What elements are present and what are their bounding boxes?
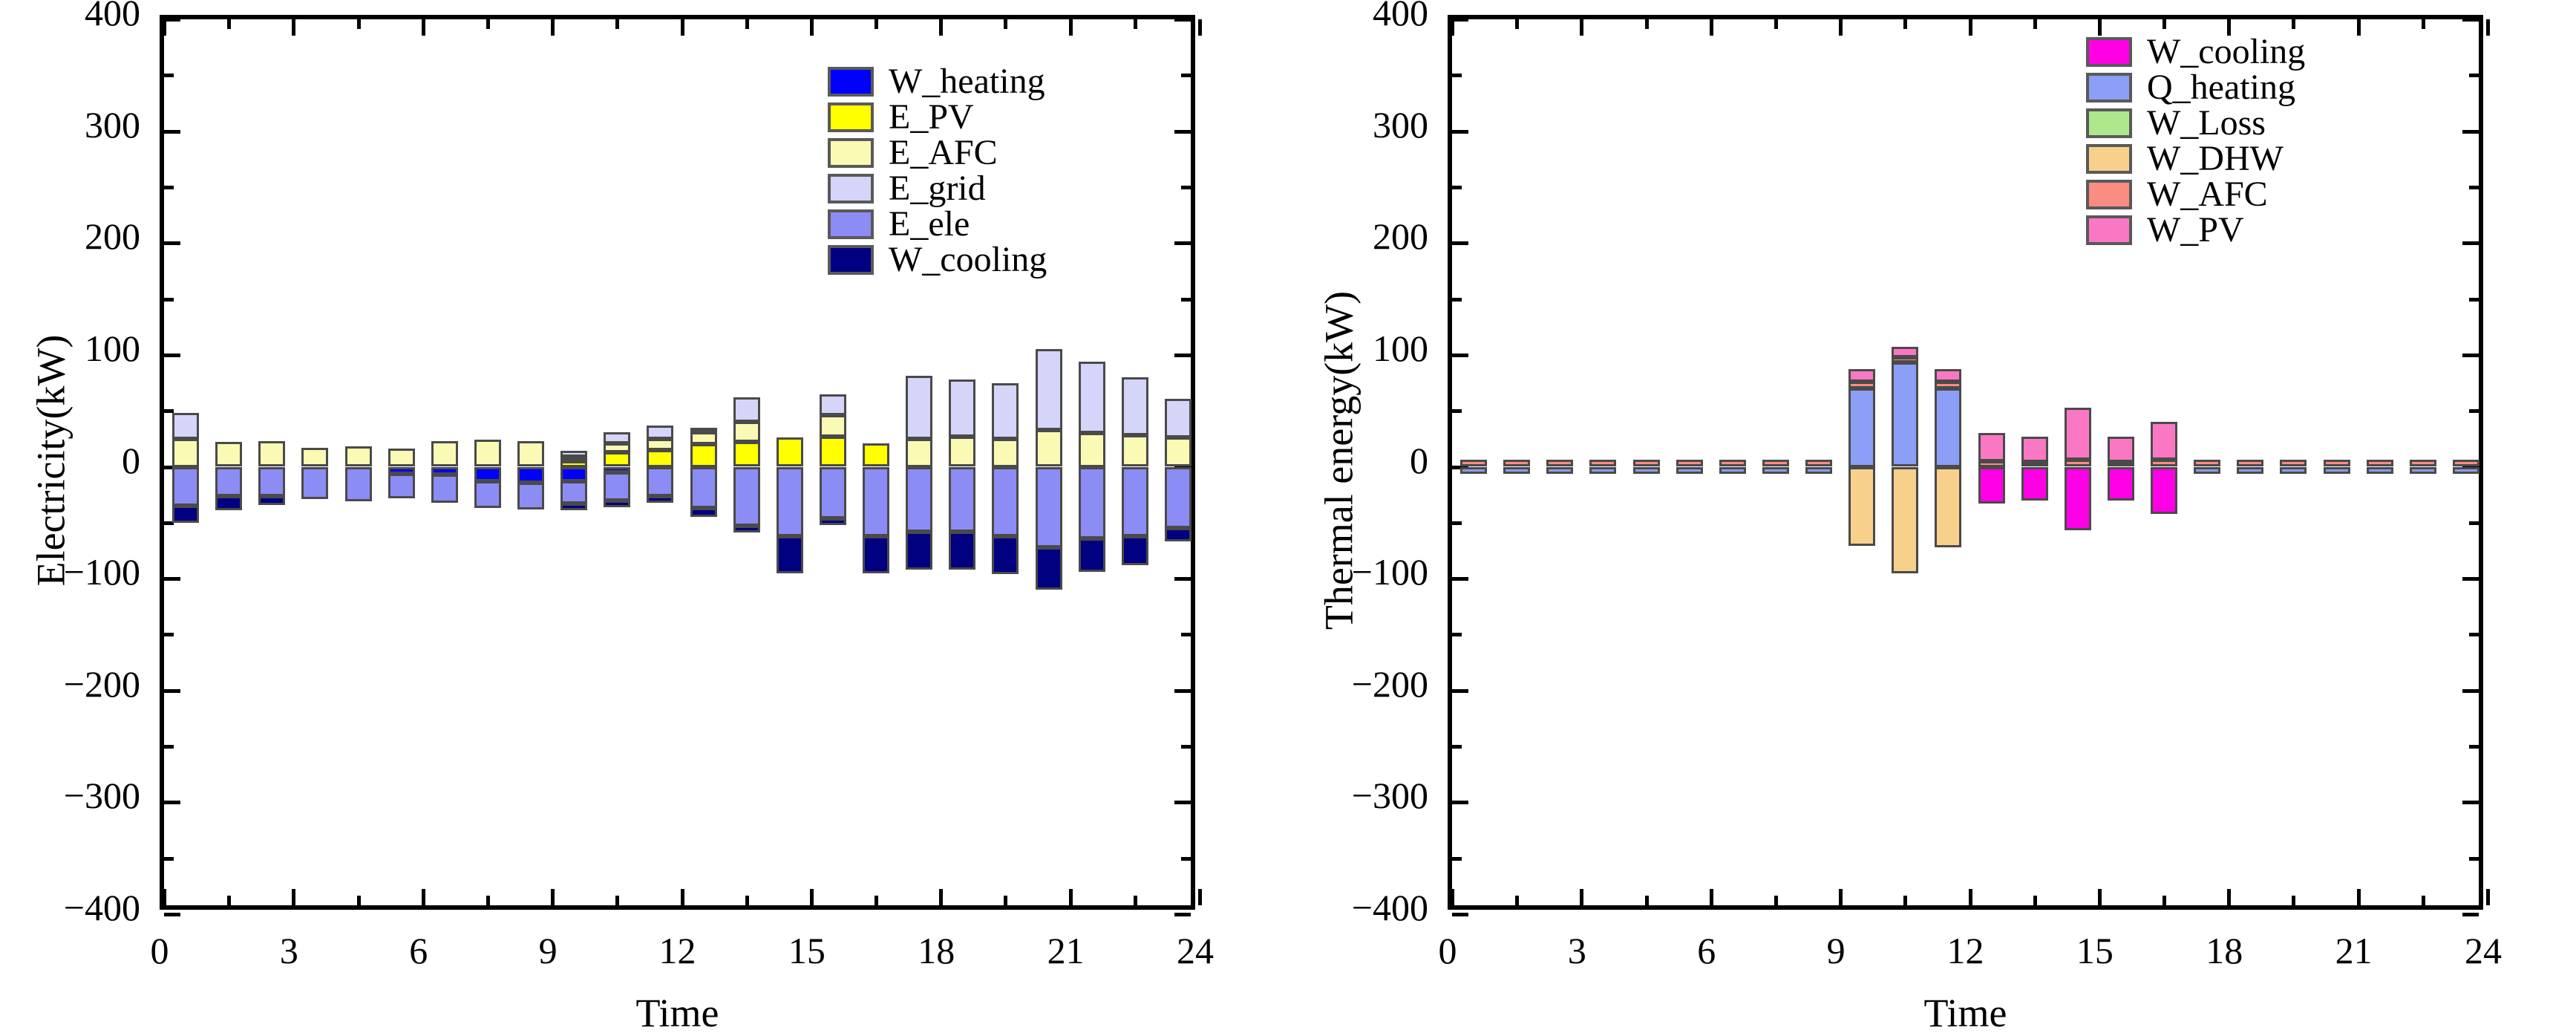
bar-segment-q_heating bbox=[2194, 467, 2220, 474]
bar-segment-e_grid bbox=[560, 451, 587, 457]
bar-segment-e_afc bbox=[1122, 435, 1148, 466]
x-axis-major-tick bbox=[1451, 889, 1454, 905]
bar-group bbox=[777, 19, 803, 914]
x-axis-major-tick bbox=[681, 889, 684, 905]
bar-group bbox=[1503, 19, 1530, 914]
bar-segment-w_pv bbox=[1978, 433, 2005, 461]
bar-segment-e_afc bbox=[388, 449, 415, 466]
legend-swatch-icon bbox=[2086, 37, 2132, 67]
bar-segment-e_grid bbox=[1036, 349, 1062, 429]
x-axis-tick-label: 12 bbox=[1899, 929, 2033, 972]
legend-item[interactable]: W_cooling bbox=[828, 244, 1047, 276]
x-axis-major-tick bbox=[1069, 19, 1073, 36]
bar-group bbox=[2410, 19, 2436, 914]
electricity-panel: −400−300−200−100010020030040003691215182… bbox=[0, 0, 1288, 1031]
legend-swatch-icon bbox=[2086, 108, 2132, 138]
bar-segment-w_pv bbox=[1935, 369, 1961, 382]
bar-segment-e_grid bbox=[1165, 399, 1191, 438]
bar-segment-w_cooling bbox=[863, 536, 889, 573]
bar-group bbox=[733, 19, 760, 914]
legend-label: W_cooling bbox=[889, 242, 1047, 278]
bar-segment-w_heating bbox=[431, 467, 458, 475]
bar-segment-e_afc bbox=[1165, 437, 1191, 466]
bar-segment-e_afc bbox=[301, 448, 328, 467]
bar-segment-q_heating bbox=[1503, 467, 1530, 474]
bar-group bbox=[2367, 19, 2393, 914]
bar-segment-w_afc bbox=[1805, 460, 1832, 466]
bar-segment-e_pv bbox=[777, 437, 803, 466]
x-axis-tick-label: 18 bbox=[2157, 929, 2291, 972]
bar-segment-w_afc bbox=[1633, 460, 1660, 466]
bar-group bbox=[431, 19, 458, 914]
bar-segment-e_ele bbox=[647, 467, 673, 496]
bar-group bbox=[1633, 19, 1660, 914]
bar-group bbox=[2021, 19, 2048, 914]
bar-segment-w_cooling bbox=[647, 496, 673, 503]
bar-segment-e_ele bbox=[431, 475, 458, 503]
x-axis-tick-label: 9 bbox=[481, 929, 615, 972]
bar-group bbox=[604, 19, 630, 914]
bar-group bbox=[1165, 19, 1191, 914]
bar-segment-w_cooling bbox=[906, 532, 932, 570]
legend-label: W_Loss bbox=[2147, 105, 2266, 141]
bar-segment-e_ele bbox=[301, 467, 328, 500]
bar-segment-w_afc bbox=[1503, 460, 1530, 466]
bar-group bbox=[258, 19, 285, 914]
legend-label: W_AFC bbox=[2147, 177, 2268, 212]
bar-group bbox=[2324, 19, 2350, 914]
bar-segment-e_ele bbox=[604, 472, 630, 501]
bar-segment-w_heating bbox=[517, 467, 544, 483]
bar-segment-w_cooling bbox=[258, 496, 285, 505]
bar-segment-w_afc bbox=[1892, 357, 1918, 363]
bar-segment-w_afc bbox=[1719, 460, 1746, 466]
bar-segment-w_cooling bbox=[777, 536, 803, 573]
bar-segment-w_cooling bbox=[560, 504, 587, 510]
bar-segment-w_dhw bbox=[1892, 467, 1918, 573]
bar-segment-w_pv bbox=[2021, 437, 2048, 463]
bar-segment-q_heating bbox=[1848, 388, 1875, 466]
bar-segment-e_afc bbox=[258, 441, 285, 467]
legend-swatch-icon bbox=[2086, 73, 2132, 102]
x-axis-major-tick bbox=[1580, 889, 1583, 905]
bar-segment-w_heating bbox=[604, 467, 630, 473]
legend-item[interactable]: E_grid bbox=[828, 172, 1047, 205]
x-axis-major-tick bbox=[1710, 889, 1713, 905]
legend-item[interactable]: W_Loss bbox=[2086, 107, 2305, 140]
bar-segment-e_afc bbox=[906, 439, 932, 467]
bar-segment-e_pv bbox=[647, 450, 673, 467]
x-axis-tick-label: 9 bbox=[1769, 929, 1903, 972]
bar-segment-w_cooling bbox=[992, 536, 1019, 574]
bar-segment-w_pv bbox=[1892, 347, 1918, 357]
bar-segment-e_afc bbox=[345, 446, 372, 466]
bar-group bbox=[1719, 19, 1746, 914]
x-axis-major-tick bbox=[2098, 889, 2102, 905]
x-axis-major-tick bbox=[1839, 889, 1843, 905]
bar-group bbox=[2453, 19, 2479, 914]
bar-segment-e_afc bbox=[690, 432, 717, 445]
x-axis-major-tick bbox=[1451, 19, 1454, 36]
x-axis-tick-label: 3 bbox=[1510, 929, 1644, 972]
bar-group bbox=[172, 19, 199, 914]
bar-segment-w_cooling bbox=[949, 532, 975, 570]
thermal-energy-panel: −400−300−200−100010020030040003691215182… bbox=[1288, 0, 2576, 1031]
bar-segment-q_heating bbox=[1676, 467, 1703, 474]
bar-segment-q_heating bbox=[1935, 388, 1961, 466]
bar-group bbox=[560, 19, 587, 914]
x-axis-major-tick bbox=[1580, 19, 1583, 36]
legend-label: E_grid bbox=[889, 171, 986, 206]
x-axis-major-tick bbox=[1198, 19, 1202, 36]
legend-item[interactable]: W_PV bbox=[2086, 214, 2305, 247]
bar-segment-w_pv bbox=[2108, 437, 2134, 463]
bar-segment-w_afc bbox=[2021, 462, 2048, 466]
bar-segment-e_ele bbox=[1036, 467, 1062, 547]
bar-segment-q_heating bbox=[2410, 467, 2436, 474]
x-axis-tick-label: 21 bbox=[999, 929, 1133, 972]
bar-segment-e_grid bbox=[690, 428, 717, 432]
bar-segment-w_afc bbox=[1848, 382, 1875, 388]
x-axis-tick-label: 15 bbox=[2028, 929, 2162, 972]
bar-segment-w_cooling bbox=[604, 501, 630, 507]
bar-segment-q_heating bbox=[2324, 467, 2350, 474]
bar-segment-w_afc bbox=[1460, 460, 1487, 466]
bar-segment-e_ele bbox=[172, 467, 199, 506]
bar-segment-e_grid bbox=[949, 379, 975, 437]
legend-label: E_ele bbox=[889, 206, 970, 242]
legend-item[interactable]: Q_heating bbox=[2086, 71, 2305, 104]
bar-segment-w_heating bbox=[474, 467, 501, 482]
x-axis-major-tick bbox=[1710, 19, 1713, 36]
legend: W_heatingE_PVE_AFCE_gridE_eleW_cooling bbox=[828, 65, 1047, 279]
bar-segment-w_afc bbox=[2194, 460, 2220, 466]
bar-segment-w_afc bbox=[2108, 462, 2134, 466]
legend-item[interactable]: E_AFC bbox=[828, 137, 1047, 169]
bar-segment-e_afc bbox=[560, 457, 587, 461]
bar-segment-e_afc bbox=[474, 440, 501, 466]
x-axis-tick-label: 24 bbox=[2416, 929, 2550, 972]
bar-segment-e_afc bbox=[820, 415, 846, 437]
x-axis-title: Time bbox=[1448, 990, 2483, 1036]
bar-segment-w_afc bbox=[2410, 460, 2436, 466]
bar-segment-e_ele bbox=[992, 467, 1019, 536]
bar-segment-e_ele bbox=[215, 467, 242, 496]
legend-item[interactable]: W_cooling bbox=[2086, 36, 2305, 68]
bar-segment-w_afc bbox=[2367, 460, 2393, 466]
bar-segment-w_afc bbox=[1676, 460, 1703, 466]
bar-segment-e_ele bbox=[690, 467, 717, 509]
legend-label: W_DHW bbox=[2147, 141, 2284, 177]
bar-segment-q_heating bbox=[2453, 467, 2479, 474]
bar-group bbox=[1546, 19, 1573, 914]
bar-group bbox=[215, 19, 242, 914]
bar-segment-e_pv bbox=[604, 452, 630, 467]
legend-swatch-icon bbox=[828, 245, 874, 275]
bar-segment-q_heating bbox=[2280, 467, 2307, 474]
bar-segment-q_heating bbox=[1460, 467, 1487, 474]
bar-segment-e_grid bbox=[992, 383, 1019, 439]
bar-segment-e_grid bbox=[820, 394, 846, 416]
bar-segment-w_cooling bbox=[690, 508, 717, 517]
bar-segment-e_afc bbox=[172, 439, 199, 467]
bar-segment-w_cooling bbox=[2108, 467, 2134, 501]
bar-segment-e_afc bbox=[1036, 430, 1062, 467]
bar-segment-w_cooling bbox=[1036, 547, 1062, 590]
legend-label: E_AFC bbox=[889, 135, 998, 171]
bar-segment-q_heating bbox=[1805, 467, 1832, 474]
bar-segment-e_grid bbox=[1122, 377, 1148, 435]
x-axis-tick-label: 18 bbox=[869, 929, 1003, 972]
legend-swatch-icon bbox=[828, 138, 874, 168]
bar-segment-e_grid bbox=[733, 397, 760, 422]
legend-label: Q_heating bbox=[2147, 70, 2295, 105]
bar-segment-e_pv bbox=[560, 461, 587, 467]
bar-group bbox=[1805, 19, 1832, 914]
legend-swatch-icon bbox=[828, 209, 874, 239]
bar-group bbox=[1122, 19, 1148, 914]
bar-segment-e_afc bbox=[992, 439, 1019, 467]
x-axis-major-tick bbox=[292, 19, 295, 36]
x-axis-major-tick bbox=[2098, 19, 2102, 36]
bar-segment-w_afc bbox=[2280, 460, 2307, 466]
y-axis-title: Electricity(kW) bbox=[27, 13, 73, 908]
bar-segment-e_ele bbox=[1165, 467, 1191, 529]
bar-segment-w_afc bbox=[1762, 460, 1789, 466]
bar-segment-e_grid bbox=[1079, 362, 1105, 433]
bar-segment-q_heating bbox=[1762, 467, 1789, 474]
bar-segment-w_cooling bbox=[733, 526, 760, 532]
bar-group bbox=[301, 19, 328, 914]
x-axis-major-tick bbox=[810, 19, 814, 36]
bar-segment-w_cooling bbox=[1122, 536, 1148, 565]
bar-group bbox=[388, 19, 415, 914]
bar-segment-e_afc bbox=[1079, 433, 1105, 466]
bar-segment-e_afc bbox=[949, 437, 975, 467]
bar-group bbox=[474, 19, 501, 914]
x-axis-major-tick bbox=[163, 19, 166, 36]
bar-segment-w_dhw bbox=[1848, 467, 1875, 547]
bar-segment-e_afc bbox=[733, 422, 760, 442]
x-axis-major-tick bbox=[939, 889, 943, 905]
legend-swatch-icon bbox=[2086, 180, 2132, 209]
bar-segment-w_cooling bbox=[1079, 538, 1105, 572]
bar-segment-e_ele bbox=[517, 483, 544, 509]
legend-item[interactable]: W_heating bbox=[828, 65, 1047, 98]
bar-segment-w_cooling bbox=[2151, 467, 2177, 514]
x-axis-tick-label: 0 bbox=[1381, 929, 1514, 972]
bar-segment-w_pv bbox=[2065, 408, 2091, 460]
bar-segment-e_ele bbox=[820, 467, 846, 518]
bar-segment-e_ele bbox=[733, 467, 760, 527]
x-axis-major-tick bbox=[939, 19, 943, 36]
x-axis-major-tick bbox=[1969, 889, 1972, 905]
bar-segment-q_heating bbox=[2237, 467, 2263, 474]
legend-swatch-icon bbox=[2086, 215, 2132, 245]
bar-group bbox=[1589, 19, 1616, 914]
bar-segment-q_heating bbox=[1633, 467, 1660, 474]
bar-group bbox=[517, 19, 544, 914]
bar-segment-w_afc bbox=[2151, 460, 2177, 466]
x-axis-major-tick bbox=[681, 19, 684, 36]
bar-segment-w_afc bbox=[2453, 460, 2479, 466]
x-axis-major-tick bbox=[2486, 889, 2490, 905]
bar-segment-w_pv bbox=[2151, 422, 2177, 460]
bar-segment-w_afc bbox=[1978, 461, 2005, 467]
x-axis-title: Time bbox=[160, 990, 1195, 1036]
bar-segment-e_afc bbox=[431, 441, 458, 467]
legend-label: W_PV bbox=[2147, 212, 2244, 248]
bar-segment-e_ele bbox=[474, 481, 501, 508]
bar-group bbox=[1676, 19, 1703, 914]
bar-segment-w_afc bbox=[2065, 460, 2091, 466]
bar-segment-e_afc bbox=[517, 441, 544, 467]
bar-segment-e_afc bbox=[604, 443, 630, 452]
legend-swatch-icon bbox=[828, 174, 874, 203]
legend: W_coolingQ_heatingW_LossW_DHWW_AFCW_PV bbox=[2086, 36, 2305, 250]
bar-group bbox=[1762, 19, 1789, 914]
bar-segment-e_ele bbox=[949, 467, 975, 532]
bar-segment-q_heating bbox=[1719, 467, 1746, 474]
x-axis-major-tick bbox=[551, 19, 555, 36]
x-axis-major-tick bbox=[2357, 19, 2361, 36]
x-axis-major-tick bbox=[810, 889, 814, 905]
legend-swatch-icon bbox=[2086, 144, 2132, 174]
bar-segment-w_cooling bbox=[2065, 467, 2091, 531]
bar-segment-w_dhw bbox=[1935, 467, 1961, 547]
bar-segment-w_afc bbox=[1546, 460, 1573, 466]
bar-group bbox=[1892, 19, 1918, 914]
bar-group bbox=[1978, 19, 2005, 914]
bar-segment-e_afc bbox=[647, 439, 673, 450]
x-axis-tick-label: 6 bbox=[352, 929, 486, 972]
bar-segment-e_pv bbox=[820, 437, 846, 467]
bar-group bbox=[1848, 19, 1875, 914]
plot-frame bbox=[1448, 15, 2483, 910]
bar-segment-w_afc bbox=[1935, 382, 1961, 388]
bar-group bbox=[647, 19, 673, 914]
bar-segment-e_ele bbox=[1079, 467, 1105, 538]
bar-segment-w_pv bbox=[1848, 369, 1875, 382]
bar-segment-e_ele bbox=[906, 467, 932, 532]
bar-segment-w_afc bbox=[2324, 460, 2350, 466]
x-axis-tick-label: 21 bbox=[2287, 929, 2421, 972]
x-axis-major-tick bbox=[2486, 19, 2490, 36]
x-axis-tick-label: 3 bbox=[222, 929, 356, 972]
bar-segment-q_heating bbox=[1589, 467, 1616, 474]
legend-item[interactable]: E_PV bbox=[828, 101, 1047, 134]
x-axis-major-tick bbox=[422, 19, 425, 36]
bar-segment-e_ele bbox=[258, 467, 285, 496]
two-panel-stacked-bar-figure: −400−300−200−100010020030040003691215182… bbox=[0, 0, 2576, 1031]
x-axis-tick-label: 15 bbox=[740, 929, 874, 972]
y-axis-title: Thermal energy(kW) bbox=[1315, 13, 1361, 908]
bar-segment-e_ele bbox=[560, 481, 587, 504]
bar-segment-e_ele bbox=[345, 467, 372, 502]
legend-label: W_cooling bbox=[2147, 34, 2305, 70]
bar-segment-e_pv bbox=[733, 442, 760, 466]
x-axis-major-tick bbox=[292, 889, 295, 905]
bar-segment-e_pv bbox=[690, 444, 717, 466]
bar-segment-w_heating bbox=[560, 467, 587, 482]
legend-item[interactable]: E_ele bbox=[828, 208, 1047, 241]
bar-segment-e_ele bbox=[1122, 467, 1148, 536]
legend-swatch-icon bbox=[828, 102, 874, 132]
bar-segment-e_ele bbox=[863, 467, 889, 536]
bar-group bbox=[690, 19, 717, 914]
bar-segment-q_heating bbox=[2367, 467, 2393, 474]
bar-segment-e_grid bbox=[906, 376, 932, 438]
x-axis-tick-label: 24 bbox=[1128, 929, 1262, 972]
bar-segment-w_cooling bbox=[820, 518, 846, 525]
bar-segment-q_heating bbox=[1546, 467, 1573, 474]
bar-segment-q_heating bbox=[1892, 362, 1918, 466]
x-axis-tick-label: 0 bbox=[93, 929, 226, 972]
bar-segment-e_grid bbox=[647, 426, 673, 439]
x-axis-major-tick bbox=[163, 889, 166, 905]
bar-segment-e_pv bbox=[863, 443, 889, 467]
x-axis-major-tick bbox=[1839, 19, 1843, 36]
bar-group bbox=[1935, 19, 1961, 914]
x-axis-major-tick bbox=[2227, 889, 2231, 905]
bar-segment-w_afc bbox=[1589, 460, 1616, 466]
bar-group bbox=[1079, 19, 1105, 914]
bar-segment-w_cooling bbox=[1978, 467, 2005, 504]
x-axis-major-tick bbox=[551, 889, 555, 905]
bar-segment-e_grid bbox=[172, 413, 199, 439]
bar-group bbox=[1460, 19, 1487, 914]
x-axis-major-tick bbox=[2357, 889, 2361, 905]
bar-segment-w_heating bbox=[388, 467, 415, 474]
x-axis-major-tick bbox=[1069, 889, 1073, 905]
x-axis-major-tick bbox=[1969, 19, 1972, 36]
bar-segment-e_afc bbox=[215, 442, 242, 466]
bar-segment-w_afc bbox=[2237, 460, 2263, 466]
legend-item[interactable]: W_AFC bbox=[2086, 178, 2305, 211]
x-axis-tick-label: 12 bbox=[611, 929, 745, 972]
legend-label: W_heating bbox=[889, 64, 1045, 100]
plot-area bbox=[1452, 19, 2479, 905]
bar-segment-w_cooling bbox=[215, 496, 242, 511]
x-axis-tick-label: 6 bbox=[1640, 929, 1774, 972]
bar-segment-e_ele bbox=[388, 474, 415, 498]
bar-segment-w_cooling bbox=[172, 506, 199, 523]
bar-segment-w_cooling bbox=[2021, 467, 2048, 501]
x-axis-major-tick bbox=[1198, 889, 1202, 905]
bar-group bbox=[345, 19, 372, 914]
legend-item[interactable]: W_DHW bbox=[2086, 143, 2305, 175]
x-axis-major-tick bbox=[422, 889, 425, 905]
bar-segment-e_ele bbox=[777, 467, 803, 536]
legend-label: E_PV bbox=[889, 100, 974, 135]
bar-segment-e_grid bbox=[604, 432, 630, 443]
bar-segment-w_cooling bbox=[1165, 528, 1191, 541]
legend-swatch-icon bbox=[828, 67, 874, 97]
